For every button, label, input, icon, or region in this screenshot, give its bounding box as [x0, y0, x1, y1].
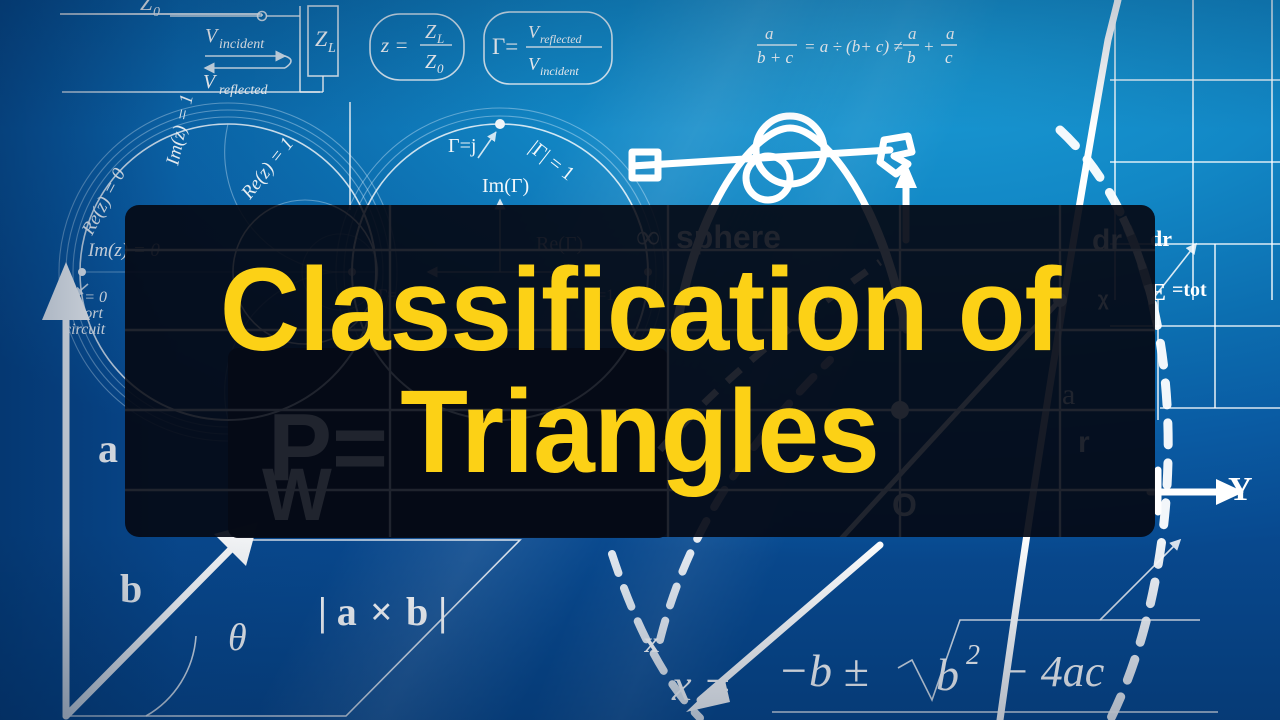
title-line-2: Triangles — [401, 372, 880, 492]
title-block: Classification of Triangles — [125, 205, 1155, 537]
thumbnail-canvas: .wstroke { stroke:#ffffff; fill:none; } … — [0, 0, 1280, 720]
title-line-1: Classification of — [220, 250, 1061, 370]
